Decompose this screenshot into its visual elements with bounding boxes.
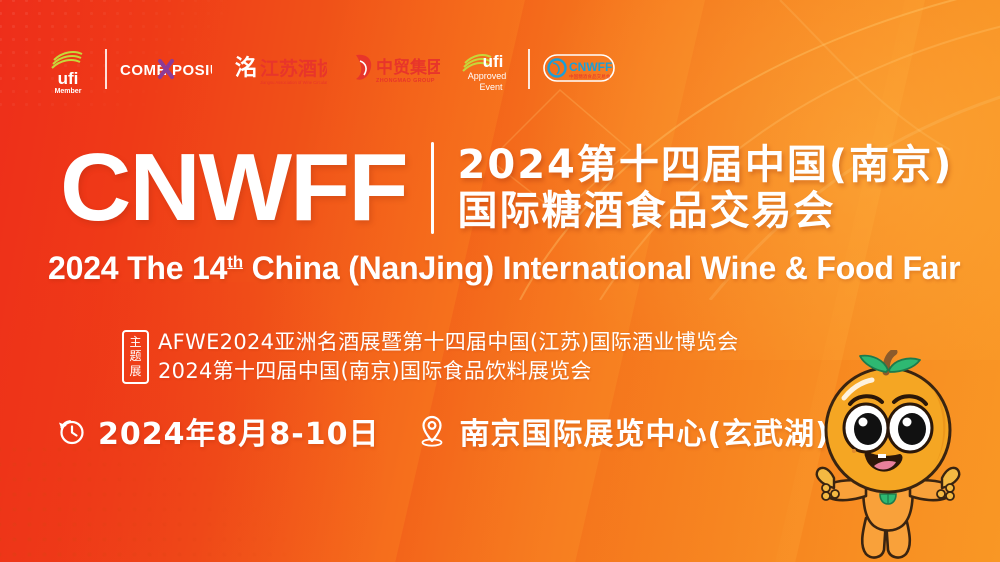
- theme-exhibition-badge: 主 题 展: [122, 330, 149, 384]
- event-date: 2024年8月8-10日: [98, 409, 379, 453]
- svg-text:POSIUM: POSIUM: [172, 62, 212, 79]
- sponsor-divider: [528, 49, 530, 89]
- english-subtitle-ordinal: th: [227, 252, 243, 271]
- theme-exhibition-block: 主 题 展 AFWE2024亚洲名酒展暨第十四届中国(江苏)国际酒业博览会 20…: [122, 330, 739, 384]
- svg-text:CNWFF: CNWFF: [569, 60, 612, 74]
- english-subtitle: 2024 The 14th China (NanJing) Internatio…: [48, 250, 960, 287]
- chinese-title-line-2: 国际糖酒食品交易会: [458, 190, 954, 232]
- svg-text:中国糖酒食品交易会: 中国糖酒食品交易会: [569, 73, 611, 80]
- event-info-row: 2024年8月8-10日 南京国际展览中心(玄武湖): [56, 408, 830, 454]
- theme-exhibition-line-1: AFWE2024亚洲名酒展暨第十四届中国(江苏)国际酒业博览会: [158, 330, 739, 354]
- svg-text:Approved: Approved: [468, 71, 507, 81]
- sponsor-divider: [105, 49, 107, 89]
- brand-acronym: CNWFF: [60, 140, 407, 236]
- svg-text:ZHONGMAO GROUP: ZHONGMAO GROUP: [376, 78, 435, 84]
- cnwff-icon: CNWFF 中国糖酒食品交易会: [543, 52, 615, 86]
- comexposium-icon: COME POSIUM: [120, 58, 212, 80]
- chinese-title-line-1: 2024第十四届中国(南京): [458, 144, 954, 186]
- jiangsu-wine-association-icon: 洺 江苏酒协 Jiangsu Association of Wine Circu…: [235, 49, 327, 89]
- english-subtitle-suffix: China (NanJing) International Wine & Foo…: [243, 250, 960, 286]
- event-date-item: 2024年8月8-10日: [56, 409, 379, 453]
- theme-exhibition-line-2: 2024第十四届中国(南京)国际食品饮料展览会: [158, 359, 739, 383]
- zhongmao-group-icon: 中贸集团 ZHONGMAO GROUP: [350, 49, 440, 89]
- svg-text:中贸集团: 中贸集团: [376, 57, 440, 78]
- theme-badge-char-2: 题: [129, 350, 141, 363]
- event-venue-item: 南京国际展览中心(玄武湖): [417, 409, 829, 453]
- theme-exhibition-lines: AFWE2024亚洲名酒展暨第十四届中国(江苏)国际酒业博览会 2024第十四届…: [158, 330, 739, 384]
- zhongmao-group-logo: 中贸集团 ZHONGMAO GROUP: [350, 49, 440, 89]
- chinese-title: 2024第十四届中国(南京) 国际糖酒食品交易会: [458, 144, 954, 232]
- sponsor-logo-bar: ufi Member COME POSIUM 洺 江苏酒协 Jiangsu As…: [44, 44, 615, 94]
- cnwff-logo: CNWFF 中国糖酒食品交易会: [543, 52, 615, 86]
- clock-icon: [56, 416, 86, 446]
- headline-row: CNWFF 2024第十四届中国(南京) 国际糖酒食品交易会: [60, 140, 953, 236]
- svg-text:Event: Event: [479, 82, 503, 92]
- event-venue: 南京国际展览中心(玄武湖): [459, 409, 829, 453]
- svg-text:江苏酒协: 江苏酒协: [260, 57, 327, 80]
- theme-badge-char-1: 主: [129, 336, 141, 349]
- ufi-member-logo: ufi Member: [44, 44, 92, 94]
- svg-text:Jiangsu Association of Wine Ci: Jiangsu Association of Wine Circulation: [260, 80, 327, 85]
- ufi-approved-event-icon: ufi Approved Event: [461, 45, 515, 93]
- theme-badge-char-3: 展: [129, 365, 141, 378]
- orange-mascot: [782, 350, 994, 562]
- comexposium-logo: COME POSIUM: [120, 58, 212, 80]
- svg-text:ufi: ufi: [58, 69, 79, 88]
- ufi-member-icon: ufi Member: [44, 44, 92, 94]
- svg-text:洺: 洺: [235, 55, 257, 81]
- svg-text:Member: Member: [55, 88, 82, 94]
- location-pin-icon: [417, 414, 447, 448]
- promo-banner: ufi Member COME POSIUM 洺 江苏酒协 Jiangsu As…: [0, 0, 1000, 562]
- title-divider: [431, 142, 434, 234]
- english-subtitle-prefix: 2024 The 14: [48, 250, 227, 286]
- jiangsu-wine-association-logo: 洺 江苏酒协 Jiangsu Association of Wine Circu…: [235, 49, 327, 89]
- svg-text:ufi: ufi: [483, 52, 504, 71]
- ufi-approved-event-logo: ufi Approved Event: [461, 45, 515, 93]
